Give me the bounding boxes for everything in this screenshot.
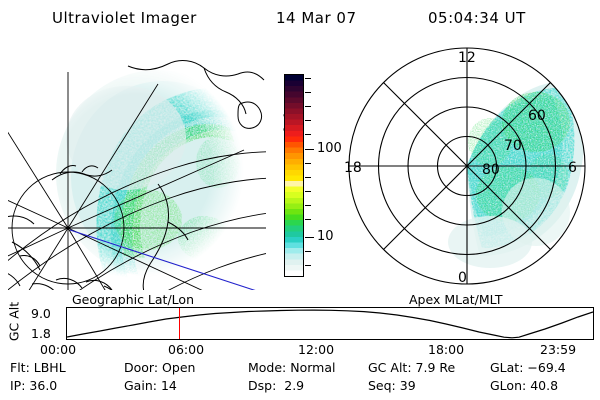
geographic-image-panel[interactable] xyxy=(8,42,266,290)
gc-alt-tick-low: 1.8 xyxy=(31,326,51,341)
time-tick-0600: 06:00 xyxy=(168,342,204,357)
mlat-label-60: 60 xyxy=(528,108,546,124)
time-tick-1800: 18:00 xyxy=(428,342,464,357)
status-mode: Mode: Normal xyxy=(248,360,336,375)
colorbar-tick xyxy=(305,265,311,266)
colorbar-tick xyxy=(305,251,311,252)
observation-time: 05:04:34 UT xyxy=(428,9,526,27)
colorbar-tick xyxy=(305,191,311,192)
mlt-label-18: 18 xyxy=(344,160,362,176)
status-gc-alt: GC Alt: 7.9 Re xyxy=(368,360,455,375)
status-seq: Seq: 39 xyxy=(368,378,416,393)
colorbar-tick xyxy=(305,106,311,107)
status-door: Door: Open xyxy=(124,360,195,375)
colorbar-tick-major-100 xyxy=(305,149,314,150)
header-bar: Ultraviolet Imager 14 Mar 07 05:04:34 UT xyxy=(0,6,600,32)
orbit-altitude-strip[interactable]: Geographic Lat/Lon Apex MLat/MLT GC Alt … xyxy=(0,292,600,354)
current-time-marker xyxy=(179,308,181,339)
mlat-label-70: 70 xyxy=(504,138,522,154)
gc-alt-tick-high: 9.0 xyxy=(31,306,51,321)
aurora-emission-layer xyxy=(56,70,260,278)
colorbar-tick-major-10 xyxy=(305,237,314,238)
mlat-label-80: 80 xyxy=(482,162,500,178)
colorbar-group: photon cm-2s-1 100 10 xyxy=(262,60,342,290)
mlt-label-6: 6 xyxy=(568,160,577,176)
colorbar-tick xyxy=(305,134,311,135)
status-flt: Flt: LBHL xyxy=(10,360,66,375)
status-row-2: IP: 36.0 Gain: 14 Dsp: 2.9 Seq: 39 GLon:… xyxy=(0,378,600,396)
colorbar-tick xyxy=(305,78,311,79)
colorbar-scale[interactable] xyxy=(284,74,304,277)
gc-alt-axis-label: GC Alt xyxy=(7,296,22,348)
time-tick-0000: 00:00 xyxy=(40,342,76,357)
colorbar-tick xyxy=(305,120,311,121)
geographic-plot xyxy=(8,42,266,290)
colorbar-label-10: 10 xyxy=(317,230,334,243)
gc-alt-plot-area[interactable] xyxy=(66,307,594,340)
time-tick-1200: 12:00 xyxy=(298,342,334,357)
mlt-dial-panel[interactable]: 12 6 0 18 60 70 80 xyxy=(340,42,594,290)
status-dsp: Dsp: 2.9 xyxy=(248,378,304,393)
colorbar-tick xyxy=(305,177,311,178)
colorbar-tick xyxy=(305,92,311,93)
strip-title-apex: Apex MLat/MLT xyxy=(409,292,503,307)
mlt-polar-plot: 12 6 0 18 60 70 80 xyxy=(340,42,594,290)
observation-date: 14 Mar 07 xyxy=(276,9,357,27)
status-glon: GLon: 40.8 xyxy=(490,378,558,393)
mlt-dial-grid xyxy=(349,48,585,284)
colorbar-label-100: 100 xyxy=(317,142,342,155)
mlt-label-12: 12 xyxy=(458,50,476,66)
strip-title-geographic: Geographic Lat/Lon xyxy=(72,292,194,307)
status-block: Flt: LBHL Door: Open Mode: Normal GC Alt… xyxy=(0,360,600,400)
colorbar-tick xyxy=(305,219,311,220)
instrument-title: Ultraviolet Imager xyxy=(52,9,197,27)
gc-alt-curve xyxy=(67,308,593,339)
status-glat: GLat: −69.4 xyxy=(490,360,566,375)
mlt-label-0: 0 xyxy=(458,270,467,286)
time-tick-2359: 23:59 xyxy=(540,342,576,357)
colorbar-tick xyxy=(305,163,311,164)
colorbar-tick xyxy=(305,205,311,206)
status-row-1: Flt: LBHL Door: Open Mode: Normal GC Alt… xyxy=(0,360,600,378)
status-ip: IP: 36.0 xyxy=(10,378,57,393)
colorbar-gradient xyxy=(285,75,303,276)
status-gain: Gain: 14 xyxy=(124,378,177,393)
